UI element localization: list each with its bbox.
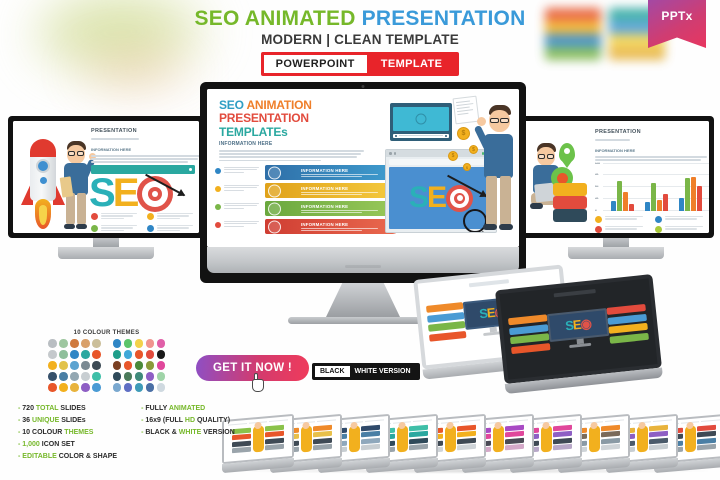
- colour-swatch[interactable]: [59, 350, 68, 359]
- info-ribbon: INFORMATION HERE: [265, 182, 400, 199]
- slide-left: PRESENTATION INFORMATION HERE SE: [13, 121, 199, 233]
- mini-slide-bar: [601, 425, 620, 432]
- mini-slide-bar: [313, 425, 332, 432]
- slide-right-subtitle-lines: [595, 139, 645, 142]
- bar-group: [679, 177, 702, 211]
- mini-slide-bar: [505, 438, 524, 445]
- slide-left-title: PRESENTATION: [91, 128, 137, 134]
- monitor-right-neck: [603, 238, 629, 247]
- mini-slide-bar: [361, 444, 380, 451]
- slide-left-subtitle-lines: [91, 138, 151, 141]
- colour-swatch[interactable]: [92, 361, 101, 370]
- colour-swatch[interactable]: [135, 372, 144, 381]
- seo-letter-s: S: [409, 181, 427, 215]
- feature-item: - FULLY ANIMATED: [141, 405, 235, 412]
- chart-legend-item: [595, 216, 645, 223]
- colour-swatch[interactable]: [70, 372, 79, 381]
- rocket-illustration: [21, 139, 65, 231]
- feature-lists: - 720 TOTAL SLIDES- 36 UNIQUE SLIDEs- 10…: [18, 405, 235, 465]
- seo-wordmark: SE◉: [564, 316, 591, 335]
- mini-slide-bar: [505, 431, 524, 438]
- character-figure: [445, 426, 456, 453]
- slide-right-info: INFORMATION HERE: [595, 148, 707, 162]
- feature-item: - BLACK & WHITE VERSION: [141, 429, 235, 436]
- mini-slide-bar: [553, 438, 572, 445]
- colour-swatch[interactable]: [59, 361, 68, 370]
- slide-column-left: [426, 302, 466, 341]
- mini-slide-column: [553, 425, 572, 451]
- slide-left-bullet: [91, 225, 139, 232]
- mini-slide-bar: [313, 444, 332, 451]
- colour-swatch[interactable]: [81, 350, 90, 359]
- slide-right-title: PRESENTATION: [595, 129, 641, 135]
- badge-powerpoint-label: POWERPOINT: [264, 55, 367, 73]
- colour-swatch[interactable]: [92, 372, 101, 381]
- coin-icon: $: [457, 127, 470, 140]
- colour-grid-right: [113, 339, 166, 392]
- heading-seo: SEO: [219, 98, 246, 112]
- heading-presentation: PRESENTATION: [219, 112, 312, 125]
- monitor-left: PRESENTATION INFORMATION HERE SE: [8, 116, 204, 259]
- mini-slide-column: [505, 425, 524, 451]
- mini-slide-bar: [601, 444, 620, 451]
- slide-left-seo-wordmark: SE: [89, 171, 173, 216]
- mini-slide-bar: [649, 444, 668, 451]
- mini-slide-bar: [361, 431, 380, 438]
- monitor-right: PRESENTATION INFORMATION HERE 0 25 50 75…: [518, 116, 714, 259]
- mini-slide-bar: [601, 431, 620, 438]
- poster-canvas: PPTx SEO ANIMATED PRESENTATION MODERN | …: [0, 0, 720, 480]
- character-figure: [253, 426, 264, 453]
- mini-slide-bar: [697, 425, 716, 432]
- character-figure: [493, 426, 504, 453]
- slide-left-bullet: [147, 213, 195, 220]
- monitor-right-bezel: PRESENTATION INFORMATION HERE 0 25 50 75…: [518, 116, 714, 238]
- browser-address-bar[interactable]: [389, 159, 493, 165]
- colour-swatch[interactable]: [146, 339, 155, 348]
- colour-swatch[interactable]: [157, 350, 166, 359]
- slide-right-info-label: INFORMATION HERE: [595, 148, 707, 153]
- feature-list-left: - 720 TOTAL SLIDES- 36 UNIQUE SLIDEs- 10…: [18, 405, 117, 465]
- mini-slide-bar: [697, 444, 716, 451]
- mini-slide-bar: [265, 431, 284, 438]
- mini-slide-column: [361, 425, 380, 451]
- mini-slide-bar: [457, 444, 476, 451]
- mini-slide-bar: [232, 427, 251, 434]
- chart-legend-item: [595, 226, 645, 233]
- feature-item: - 720 TOTAL SLIDES: [18, 405, 117, 412]
- colour-swatch[interactable]: [124, 339, 133, 348]
- badge-template-label: TEMPLATE: [367, 55, 457, 73]
- browser-content: SE: [389, 167, 493, 229]
- colour-swatch[interactable]: [92, 350, 101, 359]
- note-paper: [453, 96, 480, 125]
- mini-slide-bar: [553, 431, 572, 438]
- laptop-black-lid: SE◉: [495, 274, 662, 384]
- badge-white-label: WHITE VERSION: [353, 366, 417, 377]
- mini-slide-bar: [313, 431, 332, 438]
- colour-swatch[interactable]: [59, 372, 68, 381]
- mini-slide-bar: [457, 425, 476, 432]
- mini-laptop-row: [222, 398, 720, 480]
- colour-swatch[interactable]: [48, 372, 57, 381]
- mini-slide-bar: [697, 438, 716, 445]
- colour-swatch[interactable]: [70, 350, 79, 359]
- laptop-black-version: SE◉: [495, 274, 663, 394]
- colour-swatch[interactable]: [157, 383, 166, 392]
- slide-left-bullet: [91, 213, 139, 220]
- heading-templates: TEMPLATEs: [219, 126, 312, 139]
- colour-swatch[interactable]: [81, 361, 90, 370]
- feature-list-right: - FULLY ANIMATED- 16x9 (FULL HD QUALITY)…: [141, 405, 235, 465]
- seo-letter-e: E: [113, 171, 137, 216]
- mini-slide-bar: [505, 444, 524, 451]
- mini-slide-bar: [361, 425, 380, 432]
- feature-item: - 1,000 ICON SET: [18, 441, 117, 448]
- badge-black-label: BLACK: [315, 366, 350, 377]
- info-ribbon: INFORMATION HERE: [265, 200, 400, 217]
- mini-slide-column: [409, 425, 428, 451]
- slide-center-bullet: [215, 221, 261, 228]
- colour-swatch[interactable]: [124, 350, 133, 359]
- monitor-right-screen: PRESENTATION INFORMATION HERE 0 25 50 75…: [523, 121, 709, 233]
- colour-swatch[interactable]: [113, 339, 122, 348]
- character-figure: [541, 426, 552, 453]
- mini-slide-bar: [313, 438, 332, 445]
- colour-swatch[interactable]: [81, 383, 90, 392]
- colour-themes-section: 10 COLOUR THEMES: [48, 330, 165, 392]
- chart-legend-item: [655, 216, 705, 223]
- character-center: [479, 105, 519, 235]
- slide-center-heading: SEO ANIMATION PRESENTATION TEMPLATEs: [219, 99, 312, 139]
- monitor-right-base: [568, 247, 664, 259]
- mini-slide-column: [601, 425, 620, 451]
- colour-swatch[interactable]: [70, 339, 79, 348]
- slide-column-center: SE◉: [547, 308, 610, 350]
- mini-slide-bar: [265, 438, 284, 445]
- mini-slide-bar: [409, 438, 428, 445]
- colour-swatch[interactable]: [81, 372, 90, 381]
- laptop-black-screen: SE◉: [499, 278, 657, 379]
- laptop-black-slide: SE◉: [499, 278, 657, 379]
- character-figure: [637, 426, 648, 453]
- character-figure: [589, 426, 600, 453]
- slide-left-info: INFORMATION HERE: [91, 147, 199, 165]
- mini-slide-bar: [457, 431, 476, 438]
- pptx-label: PPTx: [661, 9, 692, 23]
- colour-swatch[interactable]: [70, 361, 79, 370]
- colour-swatch[interactable]: [48, 339, 57, 348]
- monitor-left-bezel: PRESENTATION INFORMATION HERE SE: [8, 116, 204, 238]
- feature-item: - 16x9 (FULL HD QUALITY): [141, 417, 235, 424]
- colour-swatch[interactable]: [113, 361, 122, 370]
- monitor-left-base: [58, 247, 154, 259]
- monitor-left-neck: [93, 238, 119, 247]
- bar-chart: 0 25 50 75 100: [595, 163, 709, 211]
- mini-slide-bar: [361, 438, 380, 445]
- colour-swatch[interactable]: [48, 383, 57, 392]
- monitor-center-base: [288, 317, 438, 324]
- mini-slide-column: [649, 425, 668, 451]
- mini-slide-bar: [601, 438, 620, 445]
- colour-swatch[interactable]: [146, 372, 155, 381]
- colour-swatch[interactable]: [48, 361, 57, 370]
- colour-swatch[interactable]: [59, 383, 68, 392]
- colour-swatch[interactable]: [135, 350, 144, 359]
- colour-swatch[interactable]: [124, 372, 133, 381]
- colour-swatch[interactable]: [135, 339, 144, 348]
- character-figure: [685, 426, 696, 453]
- colour-swatch[interactable]: [48, 350, 57, 359]
- colour-swatch[interactable]: [70, 383, 79, 392]
- mini-slide-bar: [265, 425, 284, 432]
- mini-slide-bar: [457, 438, 476, 445]
- seo-wordmark: SE: [409, 181, 473, 215]
- slide-center: SEO ANIMATION PRESENTATION TEMPLATEs INF…: [207, 89, 519, 247]
- mini-slide-column: [265, 425, 284, 451]
- mini-slide-bar: [409, 431, 428, 438]
- colour-swatch[interactable]: [124, 383, 133, 392]
- black-white-version-badge: BLACK WHITE VERSION: [312, 363, 420, 380]
- slide-right: PRESENTATION INFORMATION HERE 0 25 50 75…: [523, 121, 709, 233]
- feature-item: - 10 COLOUR THEMES: [18, 429, 117, 436]
- video-player-mock: [390, 103, 452, 141]
- colour-swatch[interactable]: [124, 361, 133, 370]
- colour-swatch[interactable]: [146, 361, 155, 370]
- colour-swatch[interactable]: [113, 350, 122, 359]
- character-figure: [397, 426, 408, 453]
- slide-column-left: [508, 315, 550, 354]
- location-pin-icon: [559, 143, 575, 163]
- mini-slide-column: [457, 425, 476, 451]
- feature-item: - EDITABLE COLOR & SHAPE: [18, 453, 117, 460]
- mini-slide-bar: [697, 431, 716, 438]
- colour-swatch[interactable]: [146, 383, 155, 392]
- bar-group: [645, 183, 668, 211]
- colour-swatch[interactable]: [157, 372, 166, 381]
- mini-slide-bar: [505, 425, 524, 432]
- colour-swatch[interactable]: [135, 383, 144, 392]
- stacked-shapes: [553, 183, 587, 223]
- slide-left-bullet: [147, 225, 195, 232]
- mini-slide-bar: [265, 444, 284, 451]
- slide-column-right: [606, 304, 648, 343]
- colour-swatch[interactable]: [157, 361, 166, 370]
- monitor-center-screen: SEO ANIMATION PRESENTATION TEMPLATEs INF…: [207, 89, 519, 247]
- seo-letter-e: E: [427, 181, 445, 215]
- slide-center-bullet: [215, 203, 261, 210]
- coin-icon: $: [469, 145, 478, 154]
- mini-slide-column: [697, 425, 716, 451]
- poster-header: SEO ANIMATED PRESENTATION MODERN | CLEAN…: [0, 8, 720, 76]
- mini-slide-bar: [649, 425, 668, 432]
- cursor-hand-icon: [250, 373, 266, 393]
- mini-slide-bar: [553, 425, 572, 432]
- mini-slide-bar: [232, 447, 251, 454]
- heading-animation: ANIMATION: [246, 98, 311, 112]
- colour-grid-left: [48, 339, 101, 392]
- slide-center-bullet: [215, 167, 261, 174]
- slide-center-info-label: INFORMATION HERE: [219, 141, 364, 147]
- target-icon: [137, 176, 173, 212]
- character-figure: [349, 426, 360, 453]
- cta-section: GET IT NOW !: [196, 355, 309, 381]
- monitor-center-chin: [207, 247, 519, 273]
- mini-slide-column: [232, 427, 251, 453]
- slide-center-bullet: [215, 185, 261, 192]
- colour-swatch[interactable]: [135, 361, 144, 370]
- mini-slide-column: [313, 425, 332, 451]
- colour-swatch[interactable]: [157, 339, 166, 348]
- mini-slide-bar: [649, 438, 668, 445]
- coin-icon: $: [448, 151, 458, 161]
- colour-swatch[interactable]: [113, 372, 122, 381]
- mini-slide-bar: [649, 431, 668, 438]
- slide-left-info-label: INFORMATION HERE: [91, 147, 199, 152]
- chart-legend-item: [655, 226, 705, 233]
- seo-letter-s: S: [89, 171, 113, 216]
- title-part-animated: SEO ANIMATED: [195, 7, 362, 30]
- colour-swatch[interactable]: [92, 339, 101, 348]
- colour-swatch[interactable]: [59, 339, 68, 348]
- mini-slide-bar: [409, 425, 428, 432]
- mini-slide-bar: [409, 444, 428, 451]
- monitor-left-screen: PRESENTATION INFORMATION HERE SE: [13, 121, 199, 233]
- info-ribbon: INFORMATION HERE: [265, 218, 400, 235]
- coin-icon: $: [463, 163, 471, 171]
- monitor-center-stand: [326, 283, 400, 317]
- mini-slide-bar: [232, 440, 251, 447]
- slide-center-info: INFORMATION HERE: [219, 141, 364, 163]
- colour-swatch[interactable]: [92, 383, 101, 392]
- powerpoint-template-badge: POWERPOINT TEMPLATE: [261, 52, 460, 76]
- character-figure: [301, 426, 312, 453]
- colour-swatch[interactable]: [146, 350, 155, 359]
- webcam-dot: [362, 85, 365, 88]
- mini-slide-bar: [553, 444, 572, 451]
- page-title: SEO ANIMATED PRESENTATION: [0, 8, 720, 30]
- feature-item: - 36 UNIQUE SLIDEs: [18, 417, 117, 424]
- colour-themes-caption: 10 COLOUR THEMES: [48, 330, 165, 336]
- colour-swatch[interactable]: [81, 339, 90, 348]
- mini-slide-bar: [232, 434, 251, 441]
- info-ribbon: INFORMATION HERE: [265, 164, 400, 181]
- bar-group: [611, 181, 634, 211]
- page-subtitle: MODERN | CLEAN TEMPLATE: [0, 32, 720, 47]
- monitor-center-bezel: SEO ANIMATION PRESENTATION TEMPLATEs INF…: [200, 82, 526, 283]
- colour-swatch[interactable]: [113, 383, 122, 392]
- title-part-presentation: PRESENTATION: [362, 7, 526, 30]
